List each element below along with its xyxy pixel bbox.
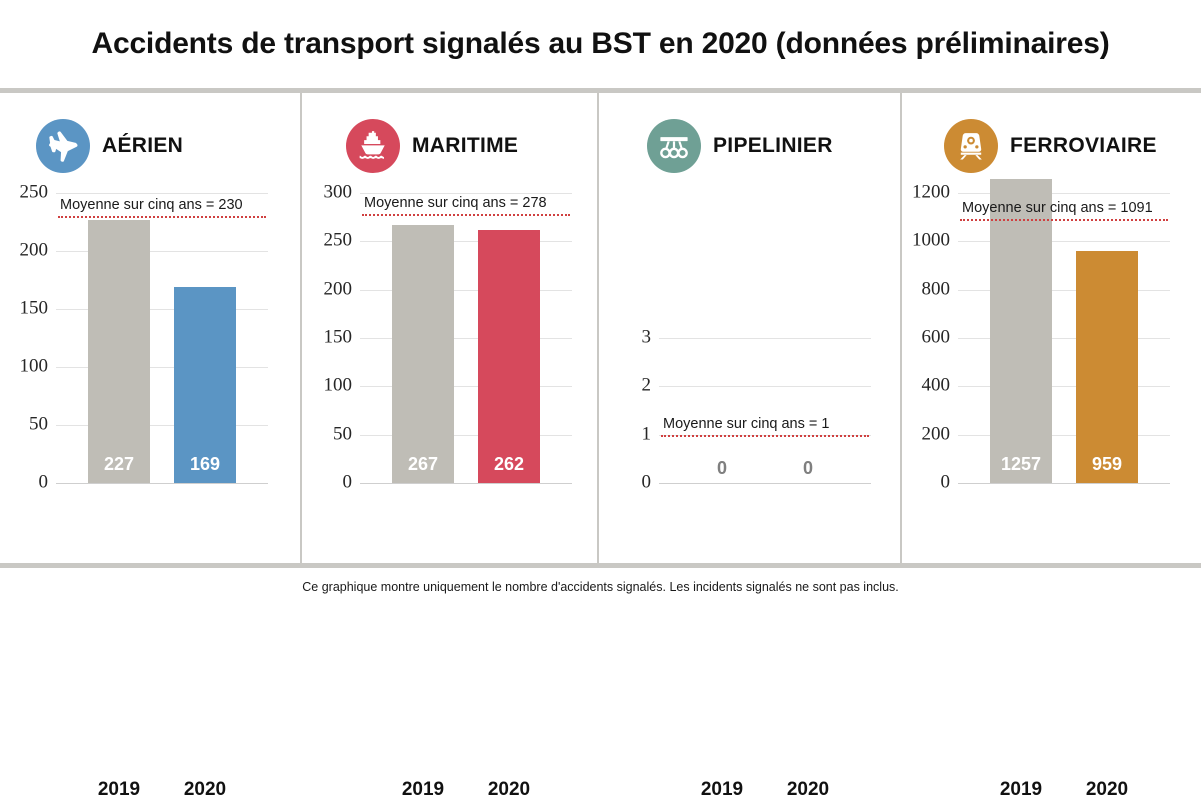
bar-value-2020: 959 [1076,454,1138,475]
bar-2020[interactable] [1076,251,1138,483]
bar-value-2020: 0 [777,458,839,479]
bar-value-2019: 227 [88,454,150,475]
bar-2020[interactable] [478,230,540,483]
panel-air: AÉRIEN 250 200 150 100 50 0 227 2019 [0,93,300,563]
x-axis-label-2020: 2020 [1076,779,1138,801]
y-tick-label: 1200 [912,182,950,204]
chart-marine: 300 250 200 150 100 50 0 267 2019 262 [300,193,597,563]
y-tick-label: 400 [922,375,951,397]
y-tick-label: 600 [922,327,951,349]
axis-area-air: 250 200 150 100 50 0 227 2019 169 2020 [56,193,268,483]
x-axis-label-2019: 2019 [88,779,150,801]
bar-value-2019: 1257 [990,454,1052,475]
panel-label-marine: MARITIME [412,134,518,158]
five-year-average-line [58,216,266,218]
chart-air: 250 200 150 100 50 0 227 2019 169 2020 [0,193,300,563]
five-year-average-line [661,435,869,437]
page-title: Accidents de transport signalés au BST e… [92,27,1110,61]
panel-marine: MARITIME 300 250 200 150 100 50 0 267 20… [300,93,597,563]
five-year-average-label: Moyenne sur cinq ans = 278 [364,195,547,214]
y-tick-label: 800 [922,278,951,300]
y-tick-label: 250 [324,230,353,252]
y-tick-label: 300 [324,182,353,204]
x-axis-label-2020: 2020 [777,779,839,801]
y-tick-label: 200 [922,423,951,445]
x-axis-label-2020: 2020 [174,779,236,801]
panel-header-marine: MARITIME [300,93,597,173]
panels-container: AÉRIEN 250 200 150 100 50 0 227 2019 [0,93,1201,563]
five-year-average-label: Moyenne sur cinq ans = 230 [60,197,243,216]
gridline-zero: 0 [659,483,871,484]
axis-area-marine: 300 250 200 150 100 50 0 267 2019 262 [360,193,572,483]
y-tick-label: 2 [642,375,652,397]
y-tick-label: 250 [20,182,49,204]
x-axis-label-2019: 2019 [691,779,753,801]
panel-header-air: AÉRIEN [0,93,300,173]
y-tick-label: 3 [642,327,652,349]
panel-pipeline: PIPELINIER 3 2 1 0 0 2019 0 [597,93,900,563]
y-tick-label: 1000 [912,230,950,252]
footnote-bar: Ce graphique montre uniquement le nombre… [0,568,1201,606]
panel-label-rail: FERROVIAIRE [1010,134,1157,158]
bars-rail: 1257 2019 959 2020 [958,193,1170,483]
panel-header-pipeline: PIPELINIER [597,93,900,173]
gridline-zero: 0 [958,483,1170,484]
bar-value-2020: 169 [174,454,236,475]
pipeline-icon [647,119,701,173]
y-tick-label: 1 [642,423,652,445]
five-year-average-label: Moyenne sur cinq ans = 1 [663,416,829,435]
bar-2019[interactable] [88,220,150,483]
y-tick-label: 200 [20,240,49,262]
x-axis-label-2020: 2020 [478,779,540,801]
gridline-zero: 0 [360,483,572,484]
five-year-average-line [362,214,570,216]
y-tick-label: 50 [333,423,352,445]
ship-icon [346,119,400,173]
y-tick-label: 0 [642,472,652,494]
airplane-icon [36,119,90,173]
y-tick-label: 100 [20,356,49,378]
y-tick-label: 0 [39,472,49,494]
bar-value-2019: 267 [392,454,454,475]
y-tick-label: 200 [324,278,353,300]
y-tick-label: 150 [20,298,49,320]
axis-area-rail: 1200 1000 800 600 400 200 0 1257 2019 95… [958,193,1170,483]
five-year-average-label: Moyenne sur cinq ans = 1091 [962,200,1153,219]
bars-pipeline: 0 2019 0 2020 [659,193,871,483]
chart-pipeline: 3 2 1 0 0 2019 0 2020 [597,193,900,563]
footnote-text: Ce graphique montre uniquement le nombre… [302,580,899,594]
axis-area-pipeline: 3 2 1 0 0 2019 0 2020 [659,193,871,483]
bar-value-2019: 0 [691,458,753,479]
panel-label-pipeline: PIPELINIER [713,134,833,158]
gridline-zero: 0 [56,483,268,484]
title-bar: Accidents de transport signalés au BST e… [0,0,1201,88]
x-axis-label-2019: 2019 [990,779,1052,801]
chart-rail: 1200 1000 800 600 400 200 0 1257 2019 95… [900,193,1201,563]
panel-rail: FERROVIAIRE 1200 1000 800 600 400 200 0 … [900,93,1201,563]
y-tick-label: 0 [343,472,353,494]
train-icon [944,119,998,173]
five-year-average-line [960,219,1168,221]
y-tick-label: 100 [324,375,353,397]
bar-value-2020: 262 [478,454,540,475]
y-tick-label: 50 [29,414,48,436]
bars-air: 227 2019 169 2020 [56,193,268,483]
x-axis-label-2019: 2019 [392,779,454,801]
panel-label-air: AÉRIEN [102,134,183,158]
y-tick-label: 150 [324,327,353,349]
bars-marine: 267 2019 262 2020 [360,193,572,483]
y-tick-label: 0 [941,472,951,494]
panel-header-rail: FERROVIAIRE [900,93,1201,173]
bar-2019[interactable] [392,225,454,483]
bar-2019[interactable] [990,179,1052,483]
